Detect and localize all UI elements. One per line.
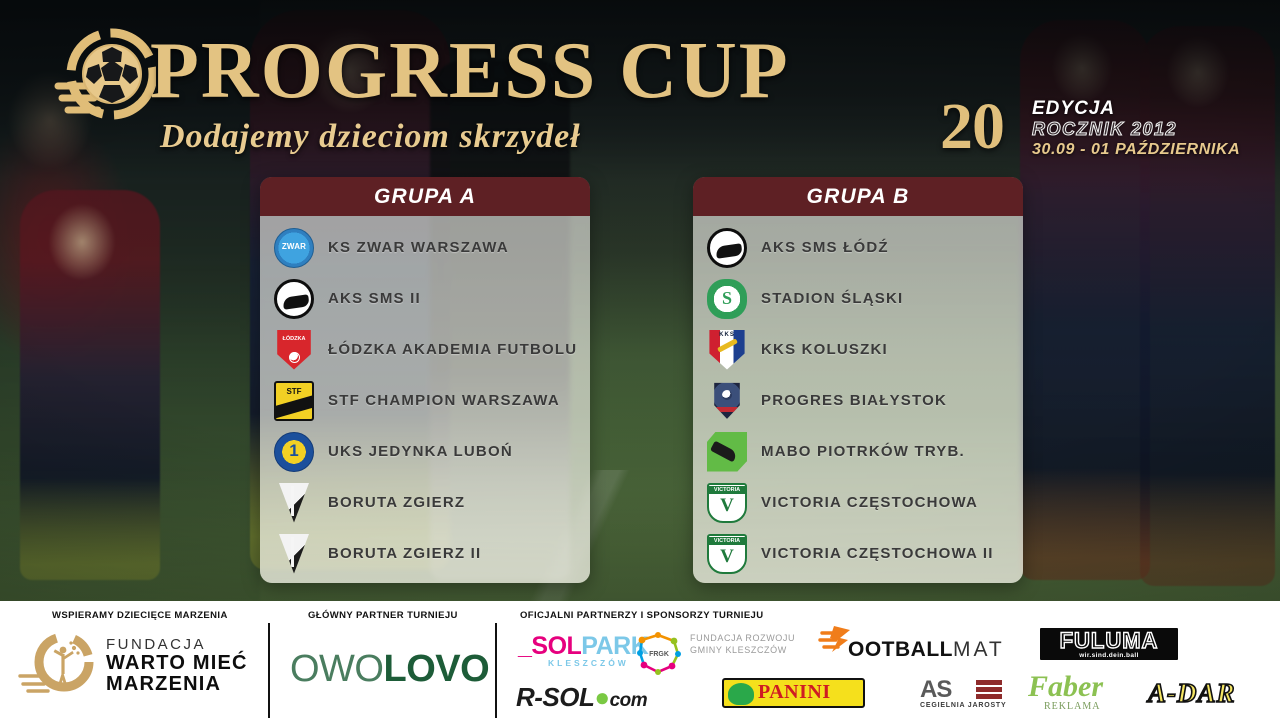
fundacja-wordmark: FUNDACJA WARTO MIEĆ MARZENIA	[106, 636, 248, 695]
edition-dates: 30.09 - 01 PAŹDZIERNIKA	[1032, 140, 1240, 159]
fundacja-line-3: MARZENIA	[106, 674, 248, 695]
as-cegielnia-jarosty-logo[interactable]: AS CEGIELNIA JAROSTY	[920, 678, 951, 702]
faber-reklama-logo[interactable]: Faber REKLAMA	[1028, 672, 1103, 702]
divider	[495, 623, 497, 718]
sponsors-caption: OFICJALNI PARTNERZY I SPONSORZY TURNIEJU	[520, 610, 764, 621]
rsol-dot: ●	[594, 682, 609, 712]
faber-subtitle: REKLAMA	[1044, 702, 1100, 712]
adar-logo[interactable]: A-DAR	[1148, 678, 1236, 709]
group-b-header: GRUPA B	[693, 177, 1023, 216]
team-name: AKS SMS II	[328, 290, 421, 307]
list-item[interactable]: BORUTA ZGIERZ	[260, 477, 590, 528]
team-name: BORUTA ZGIERZ	[328, 494, 465, 511]
page-title: PROGRESS CUP	[150, 26, 790, 117]
edition-number: 20	[940, 94, 1004, 160]
poster-header: PROGRESS CUP Dodajemy dzieciom skrzydeł …	[0, 0, 1280, 175]
football-mat-logo[interactable]: OOTBALLMAT	[848, 638, 1005, 662]
list-item[interactable]: STF CHAMPION WARSZAWA	[260, 375, 590, 426]
partner-caption: GŁÓWNY PARTNER TURNIEJU	[308, 610, 458, 621]
panini-wordmark: PANINI	[758, 682, 831, 703]
team-name: STADION ŚLĄSKI	[761, 290, 903, 307]
group-a-panel: GRUPA A KS ZWAR WARSZAWA AKS SMS II ŁÓDZ…	[260, 177, 590, 583]
zwar-crest-icon	[274, 228, 314, 268]
edition-year: ROCZNIK 2012	[1032, 119, 1240, 140]
frgk-logo[interactable]: FRGK FUNDACJA ROZWOJU GMINY KLESZCZÓW	[690, 632, 795, 656]
football-mat-light: MAT	[953, 638, 1005, 661]
victoria-czestochowa-crest-icon	[707, 483, 747, 523]
list-item[interactable]: KS ZWAR WARSZAWA	[260, 222, 590, 273]
uks-jedynka-lubon-crest-icon	[274, 432, 314, 472]
list-item[interactable]: AKS SMS ŁÓDŹ	[693, 222, 1023, 273]
team-name: VICTORIA CZĘSTOCHOWA II	[761, 545, 994, 562]
football-mat-bold: OOTBALL	[848, 638, 953, 661]
frgk-mark-icon: FRGK	[632, 628, 690, 680]
aks-sms-crest-icon	[274, 279, 314, 319]
frgk-line-2: GMINY KLESZCZÓW	[690, 644, 795, 656]
divider	[268, 623, 270, 718]
as-subtitle: CEGIELNIA JAROSTY	[920, 702, 1006, 709]
list-item[interactable]: VICTORIA CZĘSTOCHOWA II	[693, 528, 1023, 579]
fundacja-line-2: WARTO MIEĆ	[106, 653, 248, 674]
poster-stage: PROGRESS CUP Dodajemy dzieciom skrzydeł …	[0, 0, 1280, 720]
team-name: MABO PIOTRKÓW TRYB.	[761, 443, 965, 460]
aks-sms-crest-icon	[707, 228, 747, 268]
edition-badge: 20 EDYCJA ROCZNIK 2012 30.09 - 01 PAŹDZI…	[940, 96, 1270, 166]
football-mat-mark-icon	[818, 624, 854, 654]
solpark-subtitle: KLESZCZÓW	[548, 658, 629, 668]
faber-wordmark: Faber	[1028, 670, 1103, 703]
fundacja-mark-icon	[18, 630, 100, 696]
as-bricks-icon	[976, 680, 1002, 700]
fuluma-logo[interactable]: FULUMA wir.sind.dein.ball	[1040, 628, 1178, 660]
fundacja-caption: WSPIERAMY DZIECIĘCE MARZENIA	[52, 610, 228, 621]
team-name: VICTORIA CZĘSTOCHOWA	[761, 494, 978, 511]
stf-champion-crest-icon	[274, 381, 314, 421]
fuluma-wordmark: FULUMA	[1040, 630, 1178, 652]
stadion-slaski-crest-icon	[707, 279, 747, 319]
as-wordmark: AS	[920, 678, 951, 702]
fuluma-slogan: wir.sind.dein.ball	[1040, 652, 1178, 659]
frgk-line-1: FUNDACJA ROZWOJU	[690, 632, 795, 644]
edition-label: EDYCJA	[1032, 99, 1240, 119]
kks-koluszki-crest-icon	[707, 330, 747, 370]
list-item[interactable]: ŁÓDZKA AKADEMIA FUTBOLU	[260, 324, 590, 375]
list-item[interactable]: PROGRES BIAŁYSTOK	[693, 375, 1023, 426]
list-item[interactable]: VICTORIA CZĘSTOCHOWA	[693, 477, 1023, 528]
progres-bialystok-crest-icon	[707, 381, 747, 421]
soccer-ball-logo-icon	[52, 24, 156, 124]
owolovo-light: OWO	[290, 648, 383, 690]
team-name: KS ZWAR WARSZAWA	[328, 239, 509, 256]
list-item[interactable]: UKS JEDYNKA LUBOŃ	[260, 426, 590, 477]
boruta-zgierz-crest-icon	[274, 483, 314, 523]
group-a-header: GRUPA A	[260, 177, 590, 216]
frgk-badge-text: FRGK	[649, 651, 669, 658]
team-name: UKS JEDYNKA LUBOŃ	[328, 443, 513, 460]
team-name: ŁÓDZKA AKADEMIA FUTBOLU	[328, 341, 577, 358]
team-name: STF CHAMPION WARSZAWA	[328, 392, 560, 409]
list-item[interactable]: BORUTA ZGIERZ II	[260, 528, 590, 579]
rsol-com: com	[610, 690, 648, 711]
rsol-logo[interactable]: R-SOL●com	[516, 682, 647, 713]
list-item[interactable]: MABO PIOTRKÓW TRYB.	[693, 426, 1023, 477]
lodzka-akademia-futbolu-crest-icon	[274, 330, 314, 370]
list-item[interactable]: STADION ŚLĄSKI	[693, 273, 1023, 324]
team-name: PROGRES BIAŁYSTOK	[761, 392, 947, 409]
panini-logo[interactable]: PANINI	[722, 678, 865, 708]
edition-details: EDYCJA ROCZNIK 2012 30.09 - 01 PAŹDZIERN…	[1032, 99, 1240, 159]
panini-mascot-icon	[728, 683, 754, 705]
solpark-logo[interactable]: _SOLPARK	[518, 632, 648, 661]
group-a-title: GRUPA A	[374, 185, 476, 209]
boruta-zgierz-crest-icon	[274, 534, 314, 574]
victoria-czestochowa-crest-icon	[707, 534, 747, 574]
solpark-sol: _SOL	[518, 632, 581, 660]
group-a-team-list: KS ZWAR WARSZAWA AKS SMS II ŁÓDZKA AKADE…	[260, 216, 590, 583]
owolovo-logo[interactable]: OWOLOVO	[290, 648, 489, 691]
team-name: KKS KOLUSZKI	[761, 341, 888, 358]
mabo-piotrkow-crest-icon	[707, 432, 747, 472]
group-b-title: GRUPA B	[807, 185, 910, 209]
team-name: BORUTA ZGIERZ II	[328, 545, 481, 562]
rsol-name: R-SOL	[516, 682, 594, 712]
list-item[interactable]: AKS SMS II	[260, 273, 590, 324]
fundacja-line-1: FUNDACJA	[106, 636, 248, 653]
group-b-team-list: AKS SMS ŁÓDŹ STADION ŚLĄSKI KKS KOLUSZKI…	[693, 216, 1023, 583]
page-subtitle: Dodajemy dzieciom skrzydeł	[160, 118, 581, 156]
owolovo-bold: LOVO	[383, 648, 489, 690]
team-name: AKS SMS ŁÓDŹ	[761, 239, 889, 256]
group-b-panel: GRUPA B AKS SMS ŁÓDŹ STADION ŚLĄSKI KKS …	[693, 177, 1023, 583]
fundacja-warto-miec-marzenia-logo[interactable]: FUNDACJA WARTO MIEĆ MARZENIA	[18, 630, 254, 700]
list-item[interactable]: KKS KOLUSZKI	[693, 324, 1023, 375]
